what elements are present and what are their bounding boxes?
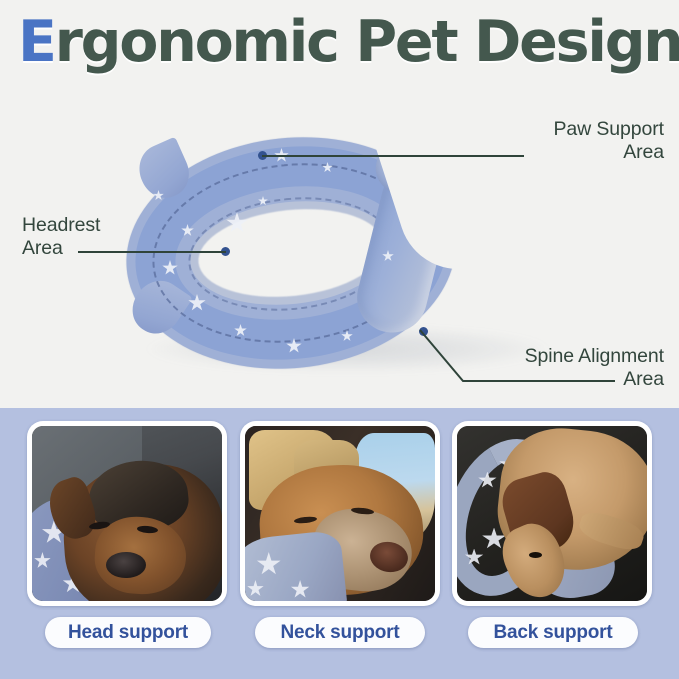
callout-headrest: Headrest Area (22, 214, 182, 260)
callout-paw-support: Paw Support Area (506, 118, 664, 164)
caption-head-support[interactable]: Head support (45, 617, 211, 648)
photo-neck-support (245, 426, 435, 601)
gallery-cards: Head support Neck support Back support (0, 408, 679, 679)
photo-back-support (457, 426, 647, 601)
caption-neck-support-label: Neck support (280, 622, 399, 644)
photo-head-support (32, 426, 222, 601)
caption-head-support-label: Head support (68, 622, 188, 644)
title-remainder: rgonomic Pet Design (55, 9, 679, 75)
caption-neck-support[interactable]: Neck support (255, 617, 425, 648)
page-title: Ergonomic Pet Design (18, 14, 679, 71)
callout-paw-support-line1: Paw Support (506, 118, 664, 141)
callout-paw-support-line2: Area (506, 141, 664, 164)
title-initial-letter: E (18, 9, 55, 75)
callout-spine-alignment-line2: Area (483, 368, 664, 391)
gallery-card-back-support[interactable] (452, 421, 652, 606)
leader-line-paw-support (262, 155, 524, 157)
callout-spine-alignment: Spine Alignment Area (483, 345, 664, 391)
hero-section: Ergonomic Pet Design (0, 0, 679, 408)
callout-spine-alignment-line1: Spine Alignment (483, 345, 664, 368)
gallery-section: Head support Neck support Back support (0, 408, 679, 679)
caption-back-support-label: Back support (493, 622, 612, 644)
gallery-card-head-support[interactable] (27, 421, 227, 606)
callout-headrest-line2: Area (22, 237, 182, 260)
caption-back-support[interactable]: Back support (468, 617, 638, 648)
gallery-card-neck-support[interactable] (240, 421, 440, 606)
infographic-page: Ergonomic Pet Design (0, 0, 679, 679)
callout-headrest-line1: Headrest (22, 214, 182, 237)
photo1-dog-nose (106, 552, 146, 578)
